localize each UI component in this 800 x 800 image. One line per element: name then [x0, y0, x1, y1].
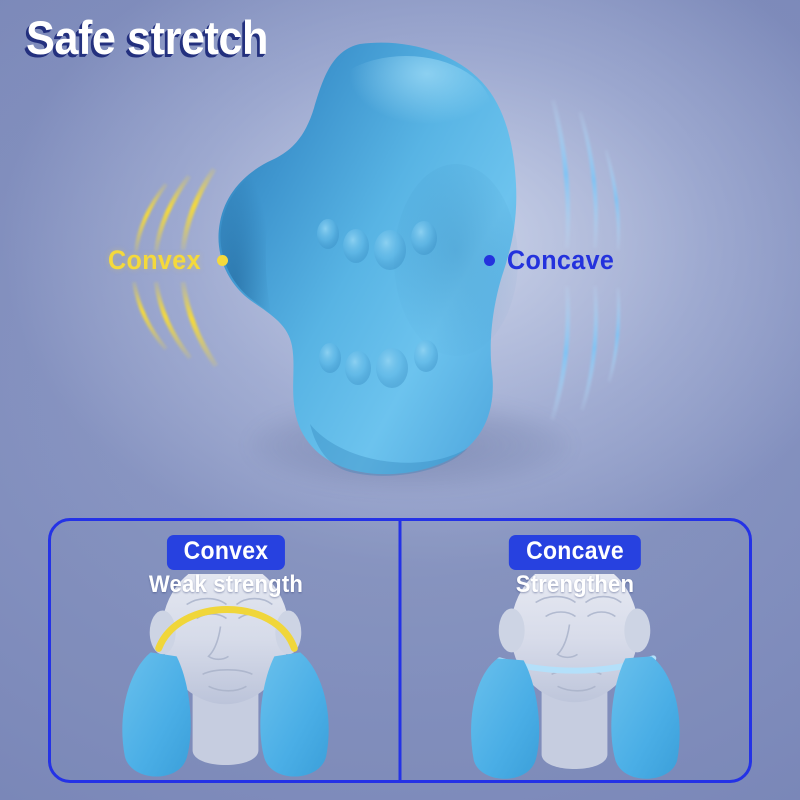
subtitle-concave: Strengthen	[510, 571, 639, 599]
convex-dot-marker-icon	[217, 255, 228, 266]
mannequin-scene-convex	[51, 574, 400, 780]
pillow-right	[611, 656, 679, 778]
callout-concave-label: Concave	[507, 245, 614, 276]
badge-convex: Convex	[166, 535, 284, 570]
wave-right-upper	[553, 100, 619, 250]
hero-product-area: Convex Concave	[0, 0, 800, 520]
wave-right-lower	[552, 286, 619, 420]
badge-concave: Concave	[508, 535, 640, 570]
comparison-panel-concave: Concave Strengthen	[400, 521, 749, 780]
wave-left-lower	[134, 282, 216, 366]
subtitle-convex: Weak strength	[142, 571, 310, 599]
callout-convex-label: Convex	[108, 245, 201, 276]
product-top-highlight	[320, 56, 492, 168]
product-marketing-image: Safe stretch	[0, 0, 800, 800]
panel-divider	[399, 521, 402, 780]
pillow-right	[260, 652, 328, 776]
pillow-left	[122, 652, 190, 776]
mannequin-scene-concave	[400, 574, 749, 780]
wave-left-upper	[136, 169, 214, 252]
callout-concave: Concave	[484, 245, 622, 276]
mannequin-ear-right	[624, 609, 650, 653]
mannequin-ear-left	[499, 609, 525, 653]
callout-convex: Convex	[108, 245, 228, 276]
comparison-panel-convex: Convex Weak strength	[51, 521, 400, 780]
comparison-panel: Convex Weak strength	[48, 518, 752, 783]
pillow-left	[471, 658, 539, 778]
concave-dot-marker-icon	[484, 255, 495, 266]
